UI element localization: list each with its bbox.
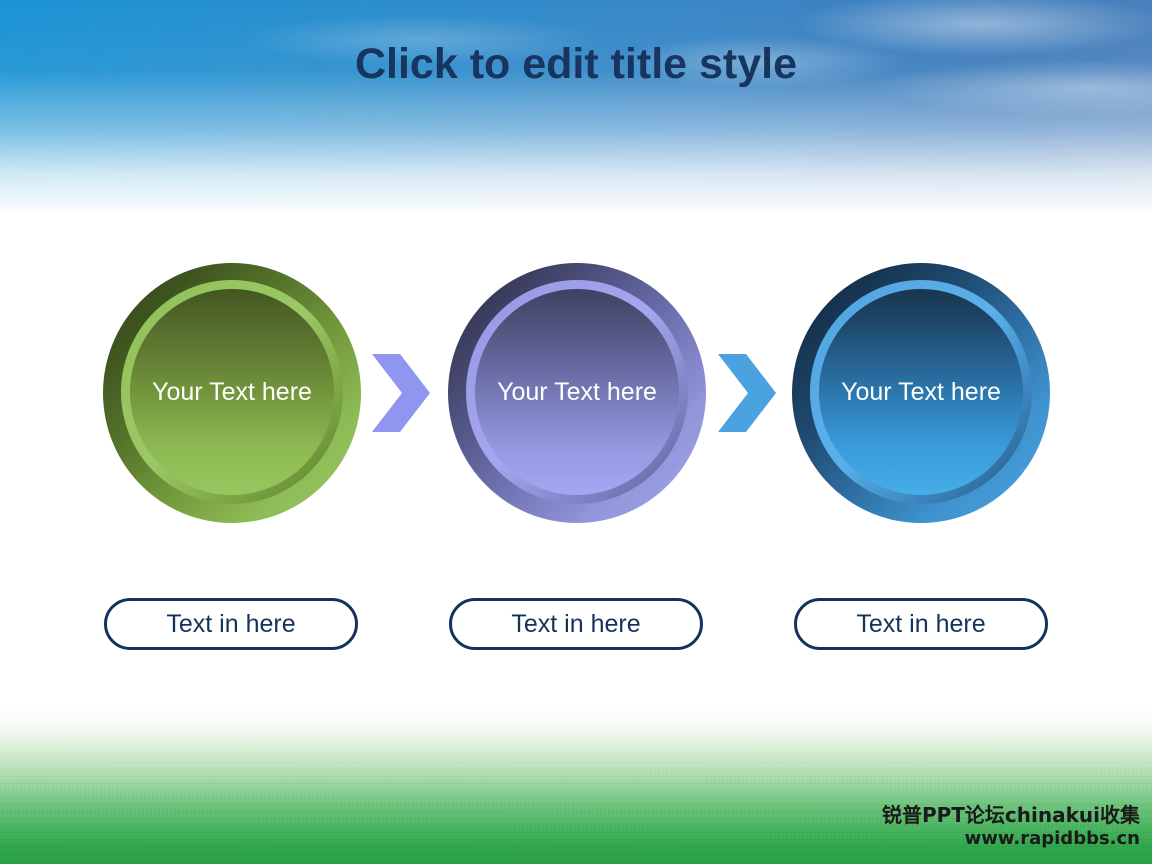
circle-label-2[interactable]: Your Text here [497,380,657,405]
chevron-right-icon [370,352,432,434]
circle-inner-disc-2: Your Text here [475,289,679,495]
chevron-right-icon [716,352,778,434]
step-circle-2[interactable]: Your Text here [448,263,706,523]
slide-title[interactable]: Click to edit title style [0,40,1152,89]
step-circle-1[interactable]: Your Text here [103,263,361,523]
watermark-line-1: 锐普PPT论坛chinakui收集 [882,803,1140,828]
circle-label-1[interactable]: Your Text here [152,380,312,405]
circle-inner-disc-3: Your Text here [819,289,1023,495]
caption-pill-label-3[interactable]: Text in here [856,612,985,637]
arrow-connector-1 [370,352,432,434]
caption-pill-label-1[interactable]: Text in here [166,612,295,637]
presentation-slide: Click to edit title style Your Text here… [0,0,1152,864]
caption-pill-3[interactable]: Text in here [794,598,1048,650]
watermark-line-2: www.rapidbbs.cn [882,828,1140,851]
arrow-connector-2 [716,352,778,434]
caption-pill-label-2[interactable]: Text in here [511,612,640,637]
sky-background [0,0,1152,250]
watermark: 锐普PPT论坛chinakui收集 www.rapidbbs.cn [882,803,1140,851]
circle-label-3[interactable]: Your Text here [841,380,1001,405]
circle-inner-disc-1: Your Text here [130,289,334,495]
caption-pill-1[interactable]: Text in here [104,598,358,650]
caption-pill-2[interactable]: Text in here [449,598,703,650]
step-circle-3[interactable]: Your Text here [792,263,1050,523]
